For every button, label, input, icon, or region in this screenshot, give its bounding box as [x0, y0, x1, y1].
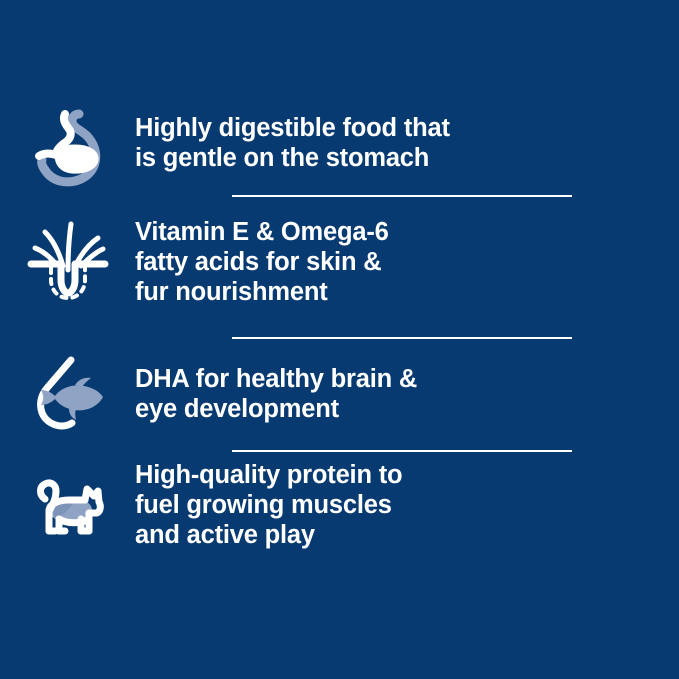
feature-text-cell: High-quality protein to fuel growing mus… — [135, 451, 679, 550]
feature-text-cell: Vitamin E & Omega-6 fatty acids for skin… — [135, 196, 679, 307]
feature-text: Vitamin E & Omega-6 fatty acids for skin… — [135, 218, 579, 307]
feature-text-cell: DHA for healthy brain & eye development — [135, 338, 679, 425]
feature-row: Highly digestible food that is gentle on… — [0, 96, 679, 195]
feature-icon-cell — [0, 96, 135, 195]
hair-follicle-icon — [25, 214, 111, 300]
cat-muscle-icon — [25, 469, 111, 549]
feature-row: High-quality protein to fuel growing mus… — [0, 451, 679, 571]
fish-droplet-icon — [25, 352, 111, 434]
benefits-panel: Highly digestible food that is gentle on… — [0, 0, 679, 679]
feature-text-cell: Highly digestible food that is gentle on… — [135, 96, 679, 174]
feature-text: DHA for healthy brain & eye development — [135, 365, 579, 425]
feature-text: Highly digestible food that is gentle on… — [135, 114, 579, 174]
feature-icon-cell — [0, 196, 135, 337]
stomach-icon — [25, 108, 111, 188]
feature-icon-cell — [0, 451, 135, 571]
feature-row: Vitamin E & Omega-6 fatty acids for skin… — [0, 196, 679, 337]
feature-row: DHA for healthy brain & eye development — [0, 338, 679, 450]
feature-text: High-quality protein to fuel growing mus… — [135, 461, 579, 550]
feature-icon-cell — [0, 338, 135, 450]
feature-list: Highly digestible food that is gentle on… — [0, 96, 679, 571]
